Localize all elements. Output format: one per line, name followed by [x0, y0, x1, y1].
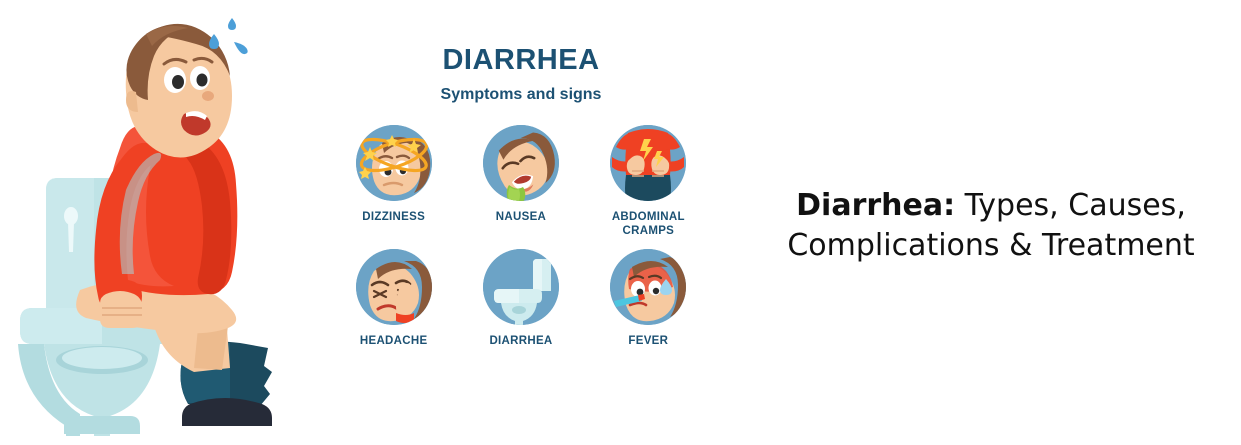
symptom-label-abdominal-cramps: ABDOMINALCRAMPS	[612, 210, 685, 239]
symptom-item-abdominal-cramps: ABDOMINALCRAMPS	[585, 125, 712, 239]
dizzy-face-icon	[356, 125, 432, 201]
symptom-label-fever: FEVER	[628, 334, 668, 348]
symptoms-grid: DIZZINESS	[330, 125, 712, 348]
sweat-drops-graphic	[209, 18, 248, 54]
symptom-item-fever: FEVER	[585, 249, 712, 348]
infographic-subtitle: Symptoms and signs	[330, 87, 712, 103]
infographic-title: DIARRHEA	[330, 46, 712, 75]
symptoms-infographic: DIARRHEA Symptoms and signs	[330, 46, 712, 396]
poster-canvas: DIARRHEA Symptoms and signs	[0, 0, 1241, 445]
vomiting-face-icon	[483, 125, 559, 201]
stomach-pain-icon	[610, 125, 686, 201]
symptom-label-nausea: NAUSEA	[496, 210, 546, 224]
symptom-label-diarrhea: DIARRHEA	[489, 334, 552, 348]
toilet-icon	[483, 249, 559, 325]
headache-face-icon	[356, 249, 432, 325]
hand-graphic	[100, 291, 142, 328]
man-on-toilet-illustration	[18, 8, 328, 438]
symptom-item-nausea: NAUSEA	[457, 125, 584, 239]
symptom-item-diarrhea: DIARRHEA	[457, 249, 584, 348]
symptom-item-dizziness: DIZZINESS	[330, 125, 457, 239]
symptom-label-headache: HEADACHE	[360, 334, 428, 348]
headline-text: Diarrhea: Types, Causes, Complications &…	[756, 186, 1226, 266]
fever-thermometer-face-icon	[610, 249, 686, 325]
symptom-item-headache: HEADACHE	[330, 249, 457, 348]
symptom-label-dizziness: DIZZINESS	[362, 210, 425, 224]
headline-emphasis: Diarrhea:	[796, 188, 955, 223]
